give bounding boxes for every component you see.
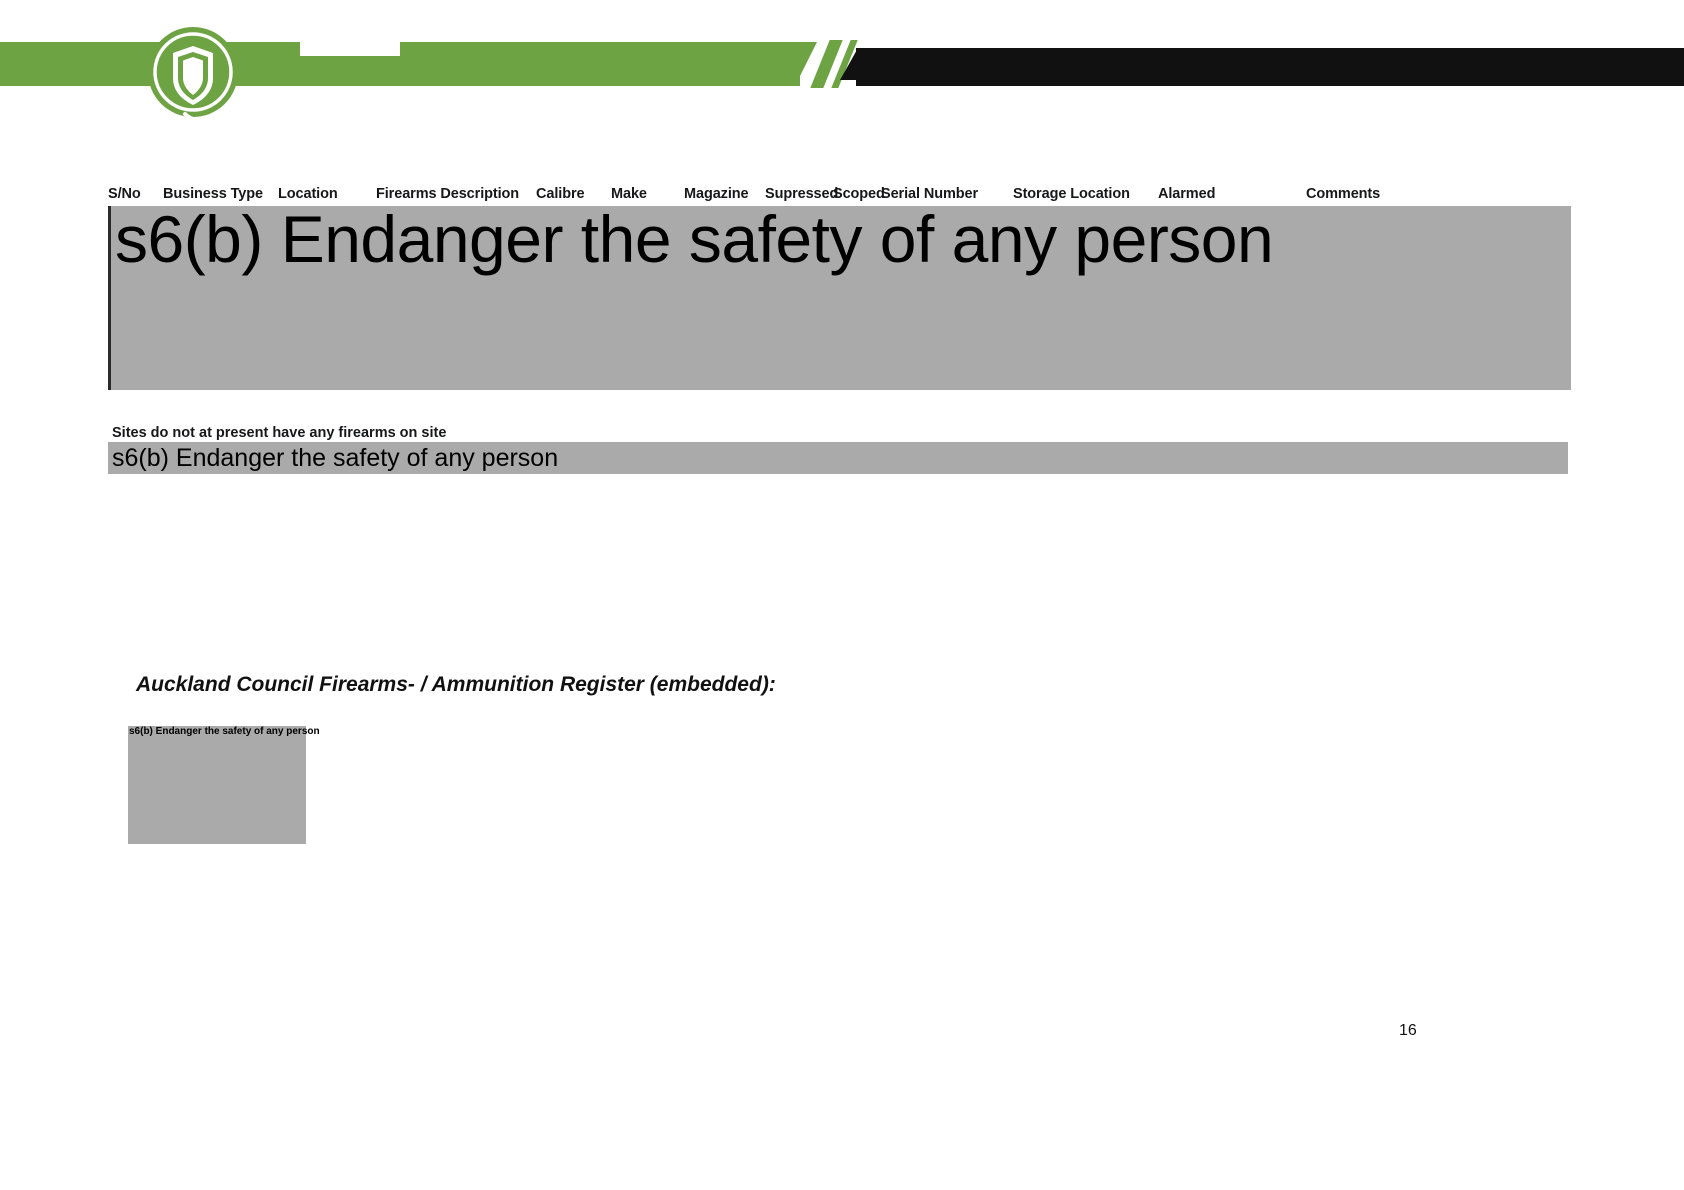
- banner-notch: [300, 42, 400, 56]
- register-embedded-caption: Auckland Council Firearms- / Ammunition …: [136, 673, 776, 697]
- redaction-label-large: s6(b) Endanger the safety of any person: [115, 200, 1273, 278]
- green-banner-bar: [0, 42, 800, 86]
- redaction-block-small[interactable]: s6(b) Endanger the safety of any person: [128, 726, 306, 844]
- black-banner-bar: [856, 48, 1684, 80]
- page-header-banner: [0, 0, 1684, 140]
- column-header-comments: Comments: [1306, 186, 1380, 202]
- redaction-label-medium: s6(b) Endanger the safety of any person: [112, 444, 558, 473]
- page-number: 16: [1399, 1022, 1417, 1040]
- note-no-firearms-on-site: Sites do not at present have any firearm…: [112, 425, 446, 441]
- black-banner-underline: [856, 80, 1684, 86]
- redaction-block-medium: s6(b) Endanger the safety of any person: [108, 442, 1568, 474]
- redaction-block-large: s6(b) Endanger the safety of any person: [108, 206, 1571, 390]
- redaction-label-small: s6(b) Endanger the safety of any person: [129, 725, 320, 738]
- shield-emblem-icon: [145, 22, 241, 126]
